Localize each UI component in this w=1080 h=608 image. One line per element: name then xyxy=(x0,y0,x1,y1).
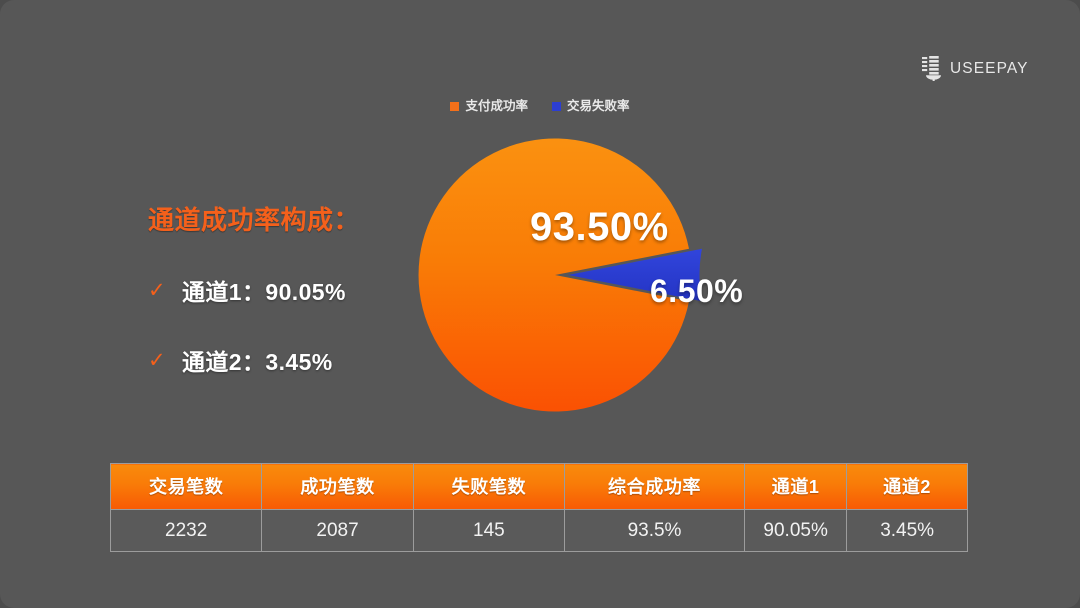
cell-transactions: 2232 xyxy=(111,510,262,552)
channel-breakdown-panel: 通道成功率构成： ✓ 通道1：90.05% ✓ 通道2：3.45% xyxy=(148,200,448,377)
panel-heading: 通道成功率构成： xyxy=(148,200,448,237)
cell-channel-2: 3.45% xyxy=(847,510,968,552)
legend-label-success: 支付成功率 xyxy=(465,100,528,113)
table-header-row: 交易笔数 成功笔数 失败笔数 综合成功率 通道1 通道2 xyxy=(111,464,968,510)
useepay-bars-icon xyxy=(922,56,943,81)
chart-legend: 支付成功率 交易失败率 xyxy=(0,100,1080,113)
cell-overall-rate: 93.5% xyxy=(565,510,745,552)
col-header-successes: 成功笔数 xyxy=(262,464,413,510)
brand-logo: USEEPAY xyxy=(922,56,1029,81)
check-mark-icon: ✓ xyxy=(148,280,168,301)
legend-label-failure: 交易失败率 xyxy=(567,100,630,113)
col-header-failures: 失败笔数 xyxy=(413,464,564,510)
col-header-channel-2: 通道2 xyxy=(847,464,968,510)
col-header-transactions: 交易笔数 xyxy=(111,464,262,510)
channel-2-value: 通道2：3.45% xyxy=(182,343,333,377)
check-mark-icon: ✓ xyxy=(148,350,168,371)
stats-table: 交易笔数 成功笔数 失败笔数 综合成功率 通道1 通道2 2232 2087 1… xyxy=(110,463,968,552)
logo-wordmark: USEEPAY xyxy=(950,61,1029,77)
list-item: ✓ 通道1：90.05% xyxy=(148,273,448,307)
table-row: 2232 2087 145 93.5% 90.05% 3.45% xyxy=(111,510,968,552)
slide-canvas: USEEPAY 支付成功率 交易失败率 通道成功率构成： ✓ 通道1：90.05… xyxy=(0,0,1080,608)
cell-failures: 145 xyxy=(413,510,564,552)
pie-label-failure: 6.50% xyxy=(650,273,743,310)
col-header-overall-rate: 综合成功率 xyxy=(565,464,745,510)
cell-successes: 2087 xyxy=(262,510,413,552)
legend-square-icon xyxy=(450,102,459,111)
col-header-channel-1: 通道1 xyxy=(745,464,847,510)
legend-item-failure[interactable]: 交易失败率 xyxy=(552,100,630,113)
pie-chart: 93.50% 6.50% xyxy=(405,125,765,425)
channel-1-value: 通道1：90.05% xyxy=(182,273,346,307)
legend-square-icon xyxy=(552,102,561,111)
pie-label-success: 93.50% xyxy=(530,205,669,250)
legend-item-success[interactable]: 支付成功率 xyxy=(450,100,528,113)
list-item: ✓ 通道2：3.45% xyxy=(148,343,448,377)
cell-channel-1: 90.05% xyxy=(745,510,847,552)
